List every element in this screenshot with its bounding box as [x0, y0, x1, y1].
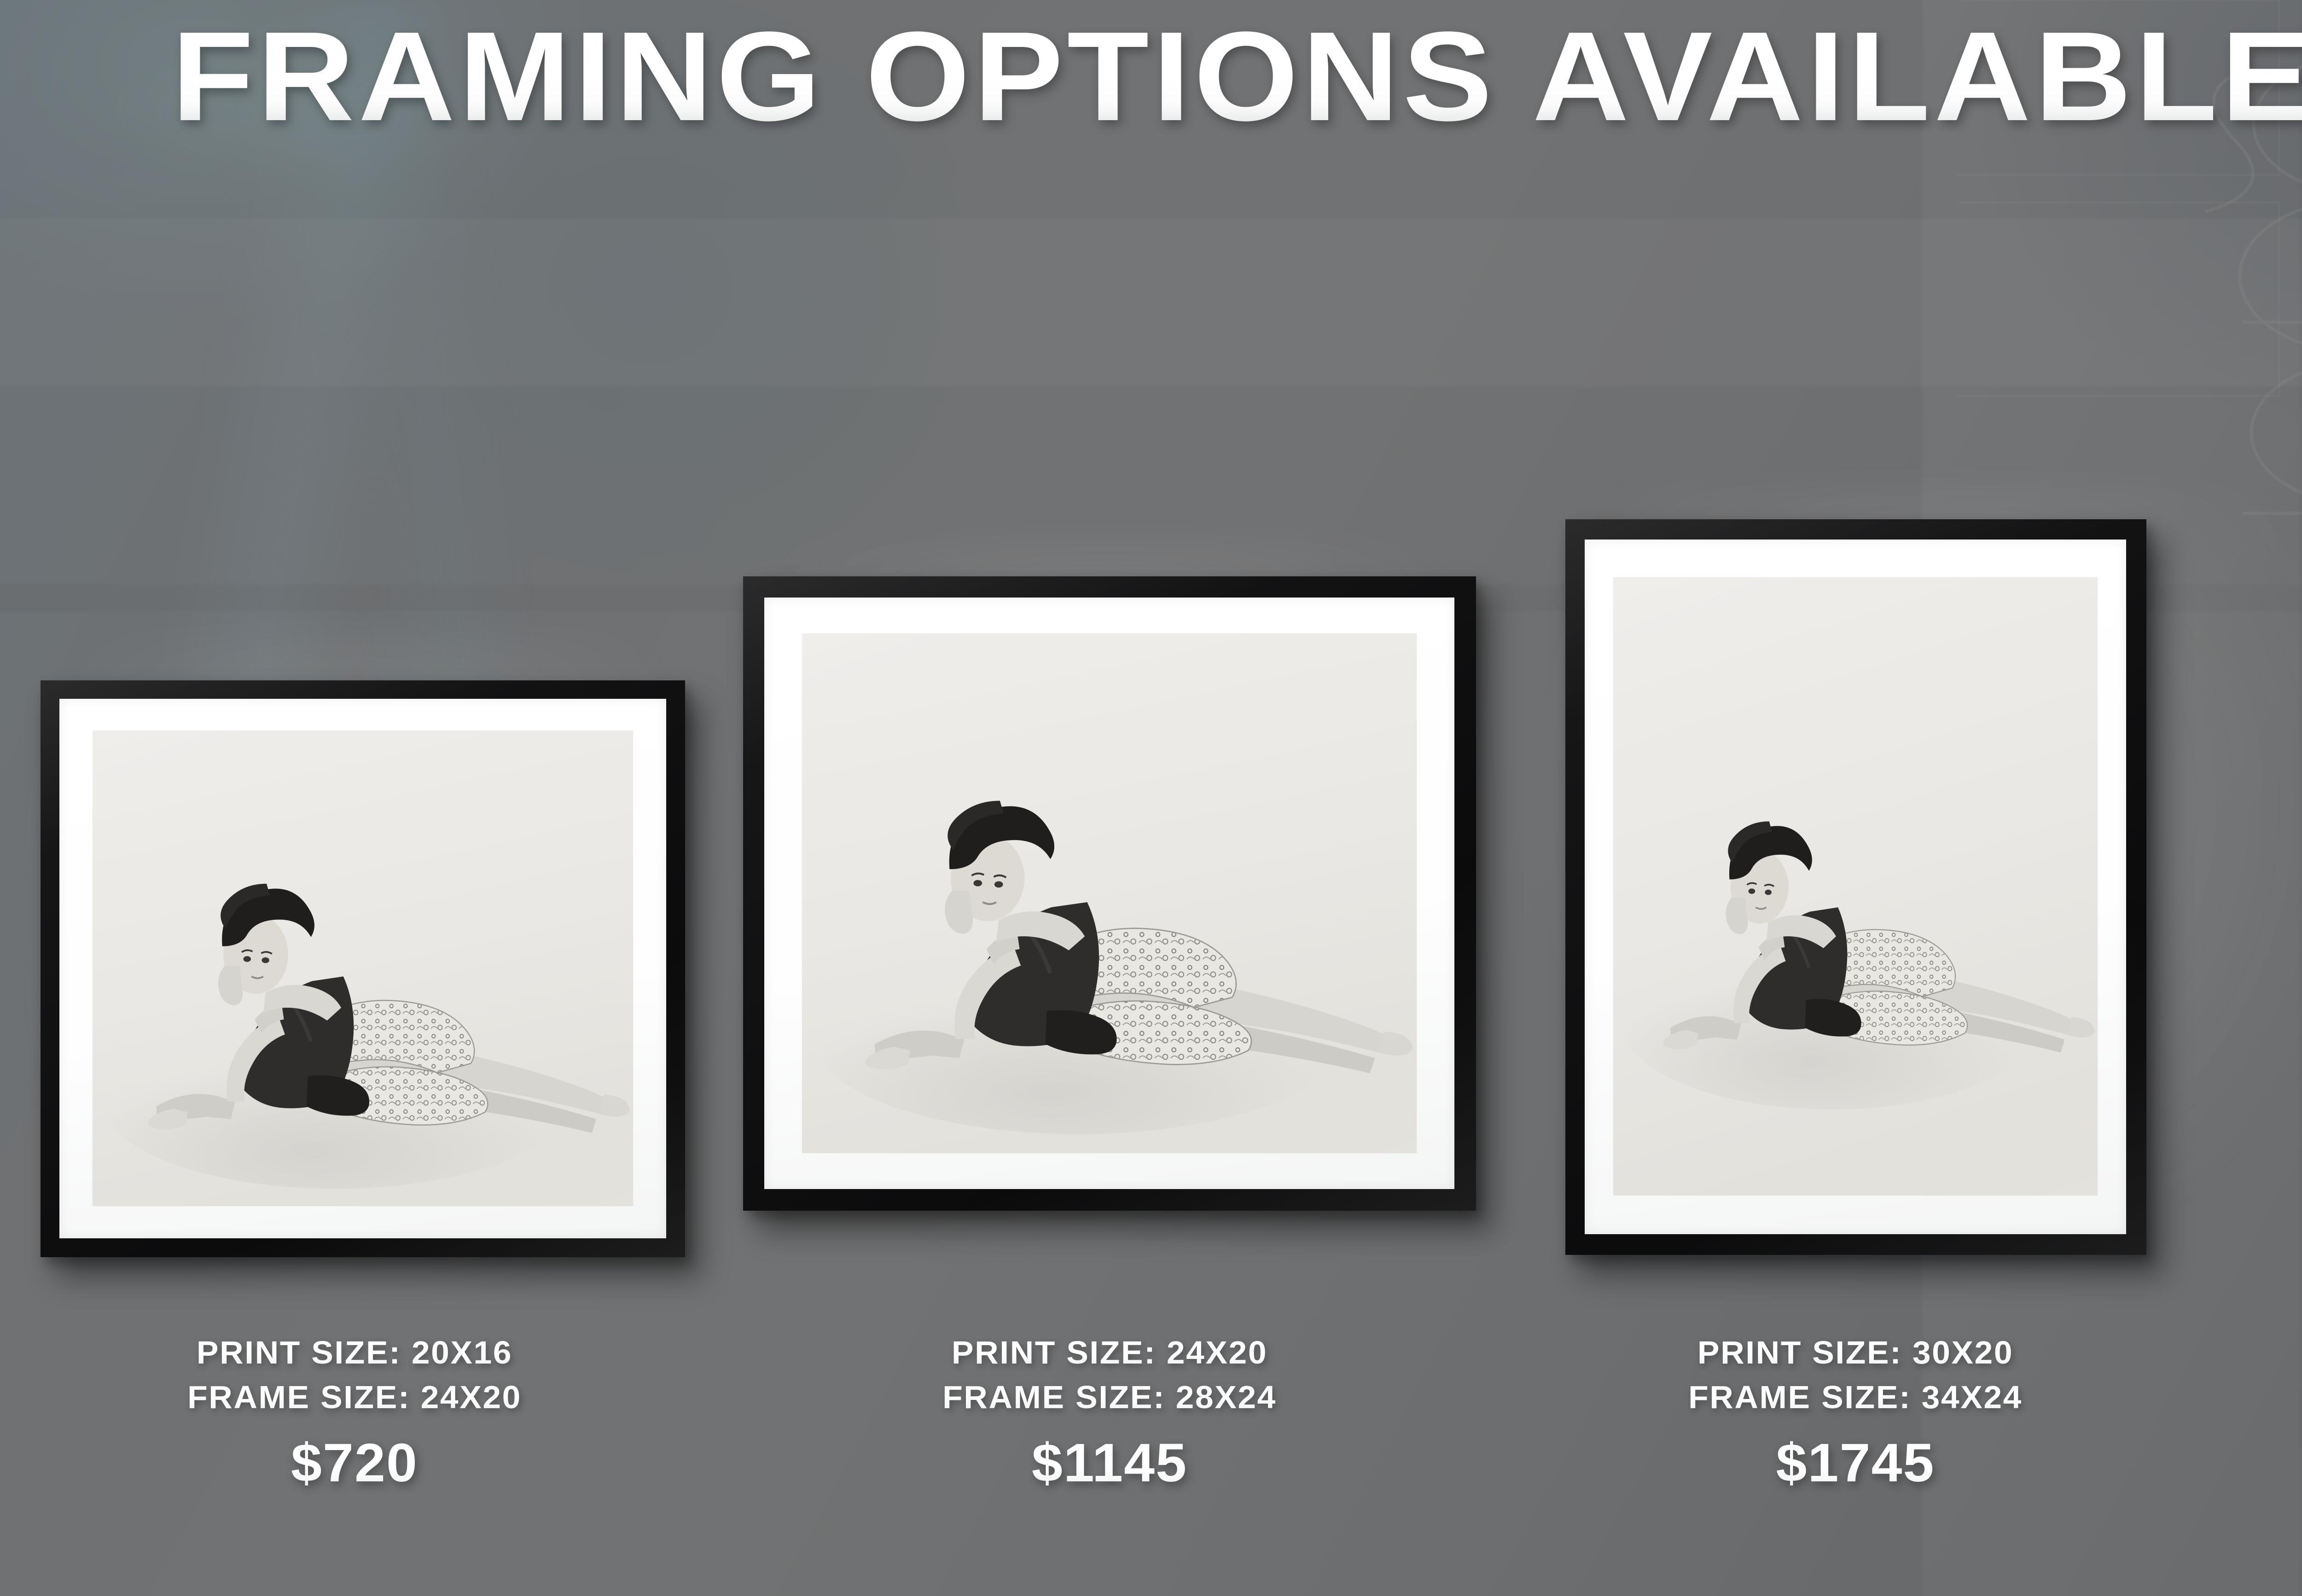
- option-2-artwork[interactable]: [802, 633, 1417, 1153]
- option-2-edition: EDITION OF 75: [884, 368, 1372, 397]
- option-3-title: OPTION 3: [1616, 254, 2113, 299]
- option-1-artwork[interactable]: [93, 731, 633, 1206]
- option-1-mat: [59, 699, 666, 1238]
- option-3-artwork[interactable]: [1613, 577, 2098, 1196]
- option-3-frame-size: FRAME SIZE: 34X24: [1569, 1375, 2142, 1420]
- option-2-heading: OPTION 2 EDITION OF 75: [889, 318, 1367, 397]
- option-1-print-size: PRINT SIZE: 20X16: [68, 1330, 641, 1375]
- option-3-price: $1745: [1569, 1429, 2142, 1497]
- option-3-print-size: PRINT SIZE: 30X20: [1569, 1330, 2142, 1375]
- option-1-edition: EDITION OF 125: [119, 490, 617, 519]
- option-1-price: $720: [68, 1429, 641, 1497]
- option-3-frame[interactable]: [1565, 519, 2146, 1255]
- option-2-price: $1145: [823, 1429, 1396, 1497]
- option-3-mat: [1585, 540, 2126, 1234]
- option-1-frame[interactable]: [41, 680, 685, 1257]
- option-1-footer: PRINT SIZE: 20X16 FRAME SIZE: 24X20 $720: [74, 1330, 635, 1497]
- option-2-frame-size: FRAME SIZE: 28X24: [823, 1375, 1396, 1420]
- option-3-edition: EDITION OF 50: [1616, 305, 2113, 333]
- option-1-title: OPTION 1: [119, 440, 617, 485]
- option-1-heading: OPTION 1 EDITION OF 125: [124, 440, 612, 519]
- option-2-mat: [764, 598, 1454, 1189]
- page-title: FRAMING OPTIONS AVAILABLE: [0, 13, 2302, 140]
- option-2-footer: PRINT SIZE: 24X20 FRAME SIZE: 28X24 $114…: [829, 1330, 1390, 1497]
- option-2-print-size: PRINT SIZE: 24X20: [823, 1330, 1396, 1375]
- option-1-frame-size: FRAME SIZE: 24X20: [68, 1375, 641, 1420]
- option-2-title: OPTION 2: [884, 318, 1372, 363]
- option-3-heading: OPTION 3 EDITION OF 50: [1621, 254, 2109, 333]
- option-3-footer: PRINT SIZE: 30X20 FRAME SIZE: 34X24 $174…: [1575, 1330, 2136, 1497]
- option-2-frame[interactable]: [743, 576, 1476, 1211]
